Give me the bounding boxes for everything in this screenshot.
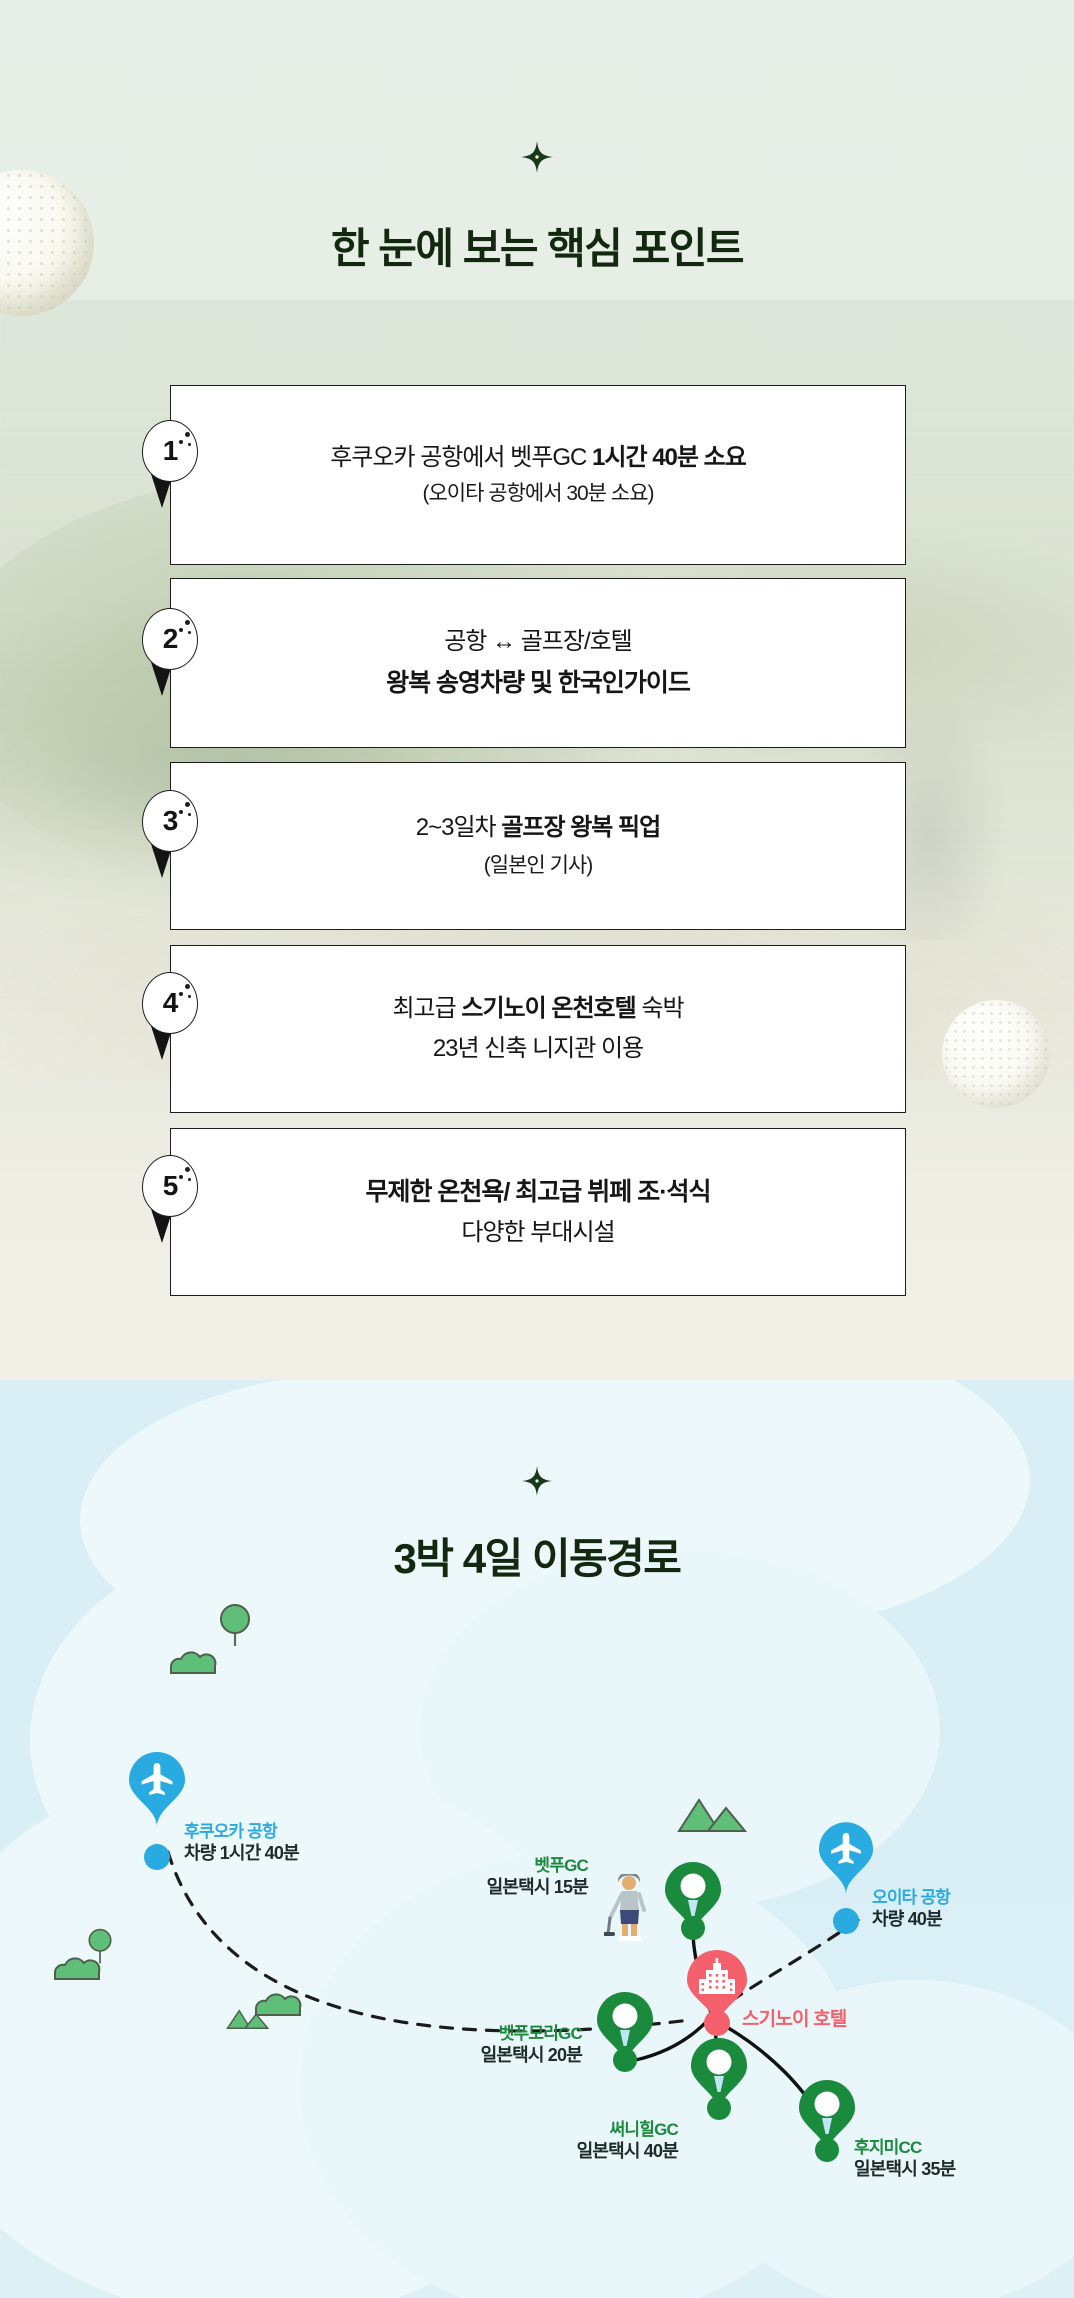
card-4-line-1: 최고급 스기노이 온천호텔 숙박	[392, 993, 683, 1025]
card-2-line-1: 공항 ↔ 골프장/호텔	[444, 626, 632, 658]
marker-dot	[144, 1844, 170, 1870]
marker-dot	[613, 2048, 637, 2072]
card-3-line-1: 2~3일차 골프장 왕복 픽업	[416, 812, 660, 844]
tree-icon	[218, 1602, 252, 1653]
card-5-number-badge: 5	[142, 1155, 206, 1251]
card-1-number-badge: 1	[142, 420, 206, 516]
card-2-number-badge: 2	[142, 608, 206, 704]
beppu-mori-gc-label: 벳푸모리GC 일본택시 20분	[368, 2024, 582, 2067]
card-3-line-2: (일본인 기사)	[484, 852, 592, 880]
beppu-gc-label: 벳푸GC 일본택시 15분	[487, 1856, 588, 1899]
fukuoka-airport-label: 후쿠오카 공항 차량 1시간 40분	[184, 1822, 299, 1865]
card-1-line-1: 후쿠오카 공항에서 벳푸GC 1시간 40분 소요	[330, 442, 746, 474]
mountain-icon	[226, 2006, 270, 2035]
key-points-section: 한 눈에 보는 핵심 포인트 후쿠오카 공항에서 벳푸GC 1시간 40분 소요…	[0, 0, 1074, 1380]
airplane-icon	[128, 1752, 186, 1833]
card-3-number-badge: 3	[142, 790, 206, 886]
card-2-number: 2	[163, 623, 178, 655]
suginoi-hotel-label: 스기노이 호텔	[742, 2008, 847, 2031]
card-4-number: 4	[163, 987, 178, 1019]
card-5-number: 5	[163, 1170, 178, 1202]
card-2-line-2: 왕복 송영차량 및 한국인가이드	[386, 667, 690, 700]
marker-dot	[707, 2096, 731, 2120]
marker-dot	[704, 2010, 730, 2036]
tree-icon	[86, 1926, 114, 1971]
card-5-line-2: 다양한 부대시설	[461, 1217, 614, 1249]
mountain-icon	[676, 1792, 748, 1839]
card-4-line-2: 23년 신축 니지관 이용	[433, 1033, 643, 1065]
card-5-line-1: 무제한 온천욕/ 최고급 뷔페 조·석식	[365, 1176, 710, 1209]
sparkle-icon	[521, 1465, 553, 1497]
airplane-icon	[818, 1822, 874, 1901]
sunnyhill-gc-label: 써니힐GC 일본택시 40분	[488, 2120, 678, 2163]
card-1-line-2: (오이타 공항에서 30분 소요)	[422, 480, 653, 508]
fujimi-cc-label: 후지미CC 일본택시 35분	[854, 2138, 955, 2181]
page-title: 한 눈에 보는 핵심 포인트	[0, 215, 1074, 276]
marker-dot	[681, 1916, 705, 1940]
marker-dot	[833, 1908, 859, 1934]
route-map-section: 3박 4일 이동경로	[0, 1380, 1074, 2298]
bush-icon	[168, 1648, 218, 1681]
golfer-icon	[604, 1874, 652, 1947]
golf-ball-decoration-small	[942, 1000, 1050, 1108]
card-1-number: 1	[163, 435, 178, 467]
map-section-title: 3박 4일 이동경로	[0, 1525, 1074, 1586]
marker-dot	[815, 2138, 839, 2162]
infographic-page: 한 눈에 보는 핵심 포인트 후쿠오카 공항에서 벳푸GC 1시간 40분 소요…	[0, 0, 1074, 2298]
oita-airport-label: 오이타 공항 차량 40분	[872, 1888, 950, 1931]
sparkle-icon	[520, 140, 554, 174]
card-4-number-badge: 4	[142, 972, 206, 1068]
card-3-number: 3	[163, 805, 178, 837]
